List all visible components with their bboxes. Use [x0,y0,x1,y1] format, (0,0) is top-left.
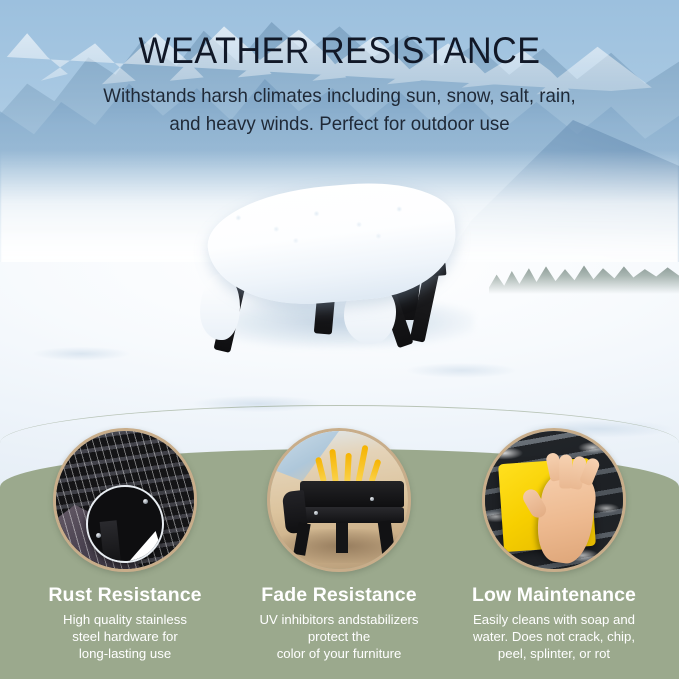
feature-image-rust-resistance [53,428,197,572]
feature-fade-resistance: Fade Resistance UV inhibitors andstabili… [246,428,432,662]
feature-description: UV inhibitors andstabilizers protect the… [246,611,432,662]
feature-description-line: color of your furniture [252,645,426,662]
sun-ray [315,457,327,484]
feature-image-fade-resistance [267,428,411,572]
feature-title: Rust Resistance [32,584,218,607]
sun-ray [368,459,381,484]
feature-description-line: UV inhibitors andstabilizers [252,611,426,628]
feature-image-low-maintenance [482,428,626,572]
stainless-screw-icon [314,511,318,515]
black-bench-on-sand [284,481,404,555]
feature-description-line: protect the [252,628,426,645]
bench-leg-middle [336,523,348,553]
sun-ray [355,445,368,483]
bench-backrest [300,481,404,507]
infographic-poster: WEATHER RESISTANCE Withstands harsh clim… [0,0,679,679]
page-title: WEATHER RESISTANCE [27,30,652,72]
sun-rays-icon [314,437,384,483]
feature-description-line: High quality stainless [38,611,212,628]
hardware-magnifier-inset [86,485,164,563]
feature-low-maintenance: Low Maintenance Easily cleans with soap … [461,428,647,662]
sun-ray [344,453,352,483]
bench-shadow [206,296,474,348]
stainless-screw-icon [96,533,101,538]
feature-description-line: Easily cleans with soap and [467,611,641,628]
feature-title: Low Maintenance [461,584,647,607]
feature-description-line: steel hardware for [38,628,212,645]
sun-ray [329,449,339,483]
feature-description-line: long-lasting use [38,645,212,662]
feature-description-line: peel, splinter, or rot [467,645,641,662]
stainless-screw-icon [370,497,374,501]
feature-description: High quality stainless steel hardware fo… [32,611,218,662]
inset-snow-patch [126,531,164,563]
feature-title: Fade Resistance [246,584,432,607]
feature-description: Easily cleans with soap and water. Does … [461,611,647,662]
feature-description-line: water. Does not crack, chip, [467,628,641,645]
feature-rust-resistance: Rust Resistance High quality stainless s… [32,428,218,662]
inset-bench-board [86,485,164,527]
stainless-screw-icon [143,499,148,504]
hero-snow-covered-bench [196,186,488,356]
bench-leg-right [378,520,396,555]
page-subtitle: Withstands harsh climates including sun,… [94,82,585,138]
